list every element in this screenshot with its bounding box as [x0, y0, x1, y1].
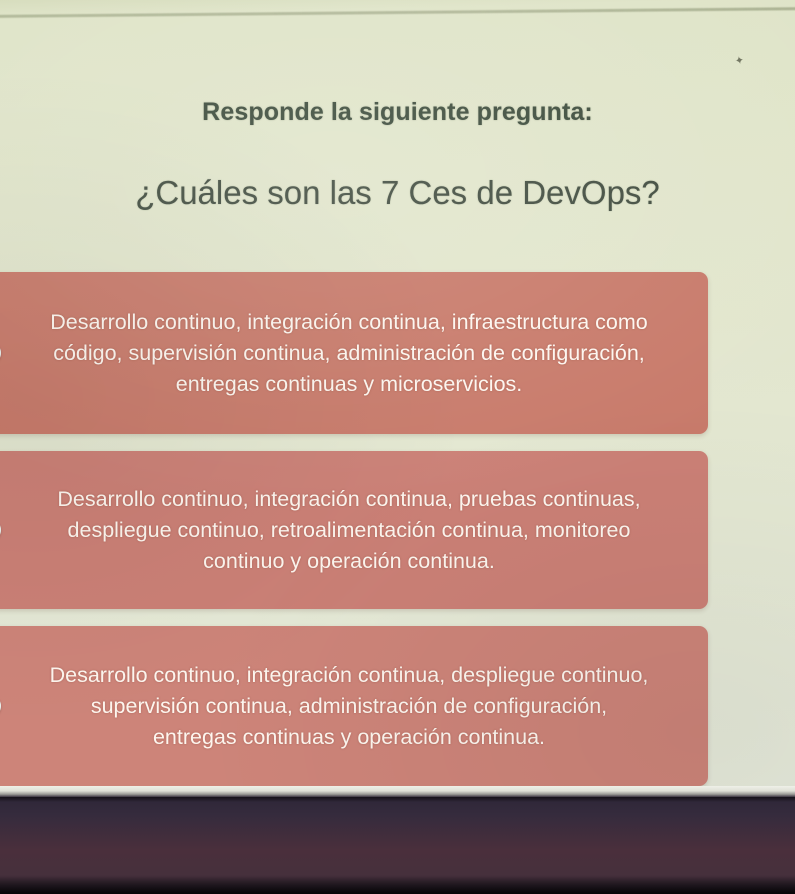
photo-of-screen: ✦ Responde la siguiente pregunta: ¿Cuále…: [0, 0, 795, 894]
answer-option-2[interactable]: Desarrollo continuo, integración continu…: [0, 451, 708, 609]
answer-option-3[interactable]: Desarrollo continuo, integración continu…: [0, 626, 708, 786]
answer-option-2-label: Desarrollo continuo, integración continu…: [0, 484, 708, 577]
dust-speck-artifact: ✦: [734, 56, 745, 66]
quiz-question: ¿Cuáles son las 7 Ces de DevOps?: [0, 174, 795, 212]
screen-bezel-strip: [0, 786, 795, 797]
windows-taskbar: M365 N zoom: [0, 797, 795, 894]
quiz-screen: ✦ Responde la siguiente pregunta: ¿Cuále…: [0, 0, 795, 795]
quiz-prompt: Responde la siguiente pregunta:: [0, 98, 795, 127]
screen-seam-line: [0, 7, 795, 18]
answer-option-1[interactable]: Desarrollo continuo, integración continu…: [0, 272, 708, 434]
answer-option-1-label: Desarrollo continuo, integración continu…: [0, 307, 708, 400]
answer-option-3-label: Desarrollo continuo, integración continu…: [0, 660, 708, 753]
